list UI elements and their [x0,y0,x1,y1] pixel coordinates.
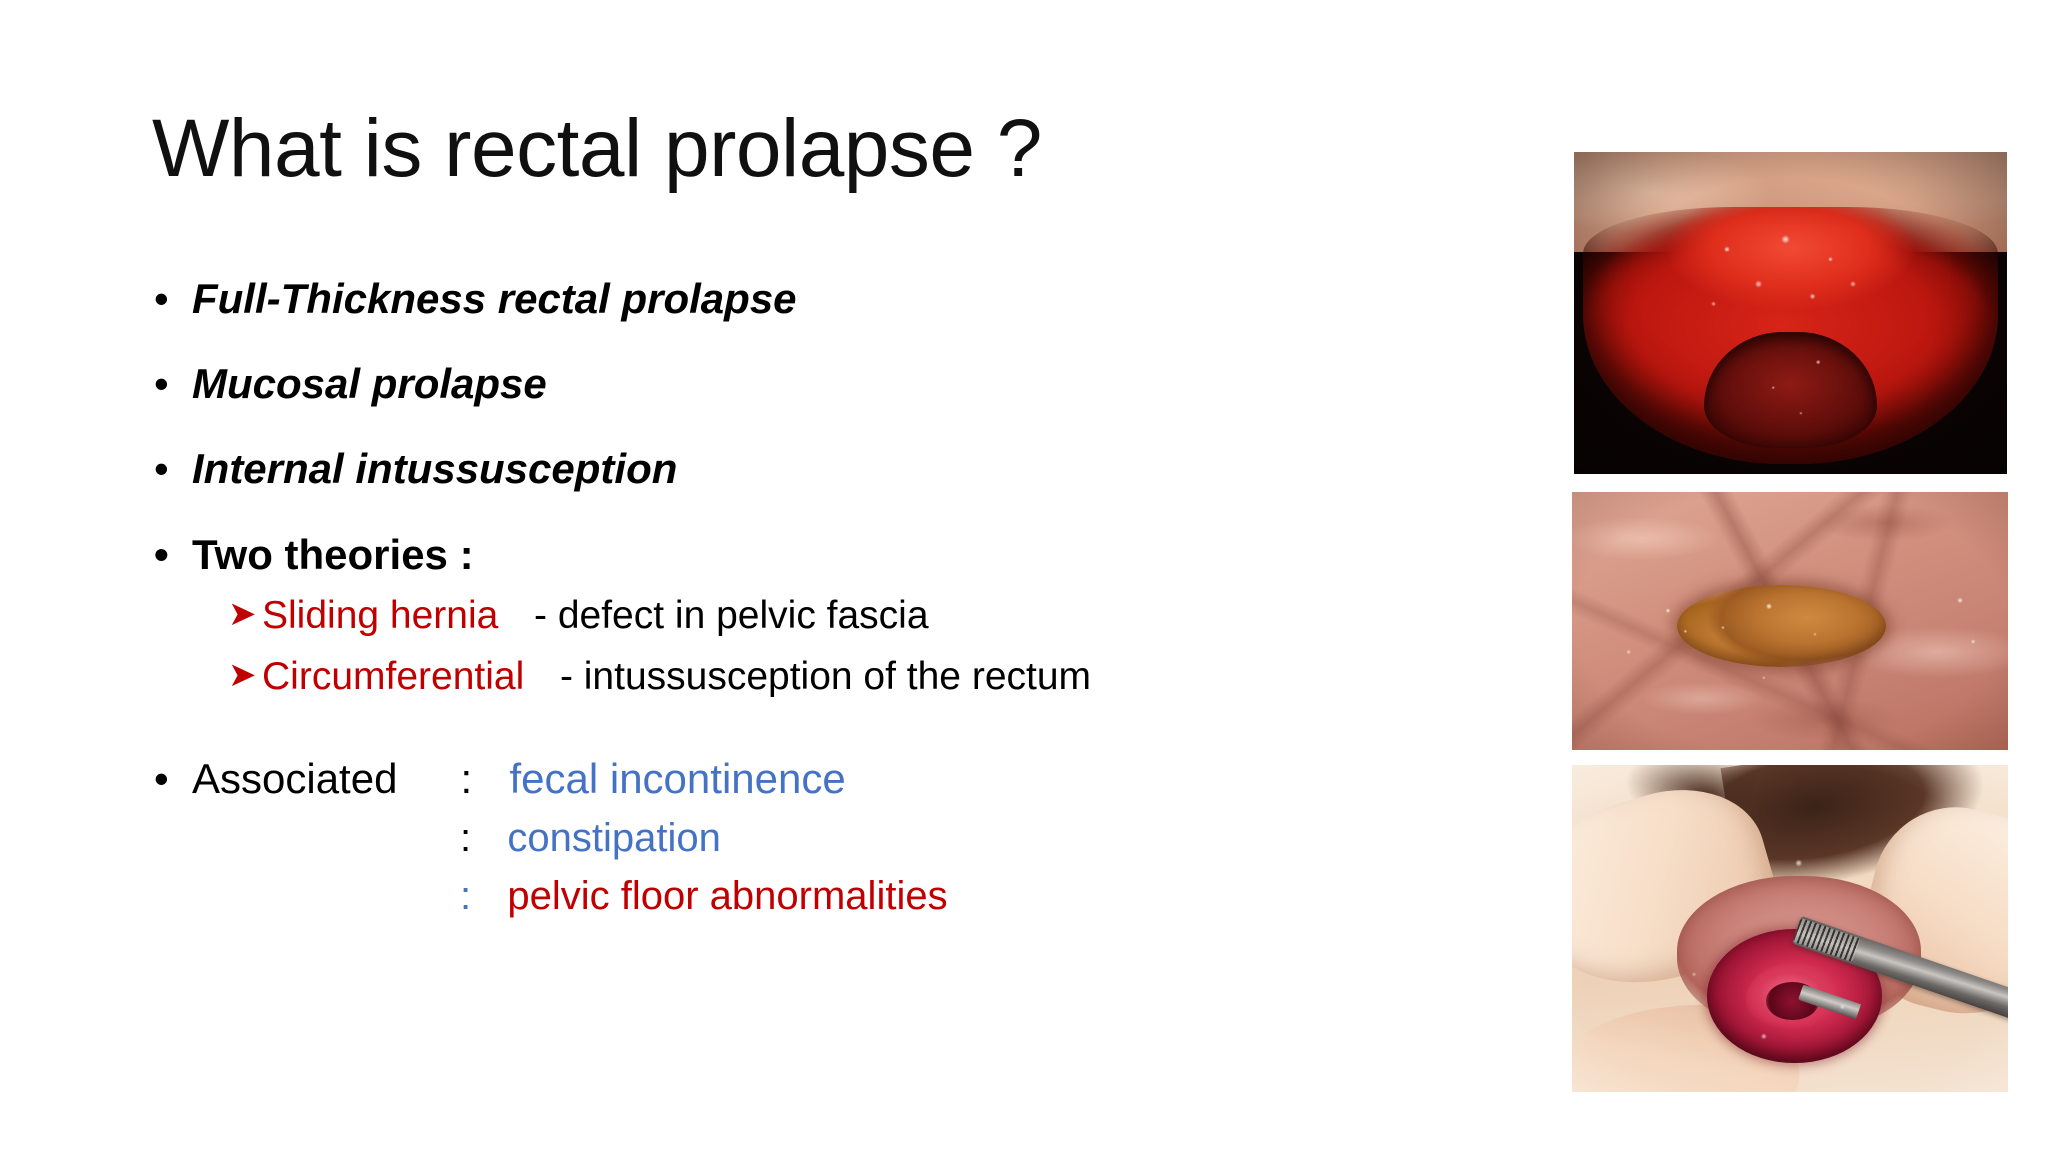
page-title: What is rectal prolapse ? [152,108,1042,190]
associated-colon: : [460,874,471,918]
theory-term: Circumferential [262,655,524,698]
two-theories-heading: Two theories : [192,531,474,578]
bullet-dot-icon: • [154,363,169,405]
associated-item-pelvic-floor-abnormalities: : pelvic floor abnormalities [150,876,1530,916]
list-item-full-thickness-rectal-prolapse: • Full-Thickness rectal prolapse [150,278,1530,320]
bullet-dot-icon: • [154,448,169,490]
slide-body-content: • Full-Thickness rectal prolapse • Mucos… [150,278,1530,934]
bullet-dot-icon: • [154,758,169,800]
sub-list-item-sliding-hernia: ➤ Sliding hernia - defect in pelvic fasc… [150,596,1530,635]
associated-colon: : [460,755,472,802]
list-item-two-theories: • Two theories : [150,534,1530,576]
theory-detail: - defect in pelvic fascia [534,594,929,637]
photo-vignette [1572,765,2008,1092]
list-item-label: Mucosal prolapse [192,360,547,407]
internal-intussusception-exam-photo [1572,765,2008,1092]
list-item-label: Full-Thickness rectal prolapse [192,275,797,322]
sub-list-item-circumferential: ➤ Circumferential - intussusception of t… [150,657,1530,696]
list-item-mucosal-prolapse: • Mucosal prolapse [150,363,1530,405]
full-thickness-rectal-prolapse-photo [1574,152,2007,474]
mucosal-prolapse-photo [1572,492,2008,750]
theory-detail: - intussusception of the rectum [560,655,1091,698]
photo-content [1572,492,2008,750]
associated-value: fecal incontinence [509,755,845,802]
arrow-bullet-icon: ➤ [228,658,257,694]
associated-item-constipation: : constipation [150,818,1530,858]
list-item-internal-intussusception: • Internal intussusception [150,448,1530,490]
photo-content [1574,152,2007,474]
theory-term: Sliding hernia [262,594,498,637]
arrow-bullet-icon: ➤ [228,597,257,633]
photo-vignette [1574,152,2007,474]
bullet-dot-icon: • [154,278,169,320]
photo-content [1572,765,2008,1092]
photo-vignette [1572,492,2008,750]
associated-colon: : [460,816,471,860]
list-item-label: Internal intussusception [192,445,677,492]
bullet-dot-icon: • [154,534,169,576]
presentation-slide: What is rectal prolapse ? • Full-Thickne… [0,0,2048,1152]
associated-value: pelvic floor abnormalities [507,874,947,918]
associated-label: Associated [192,755,397,802]
list-item-associated: • Associated : fecal incontinence [150,758,1530,800]
associated-value: constipation [507,816,720,860]
